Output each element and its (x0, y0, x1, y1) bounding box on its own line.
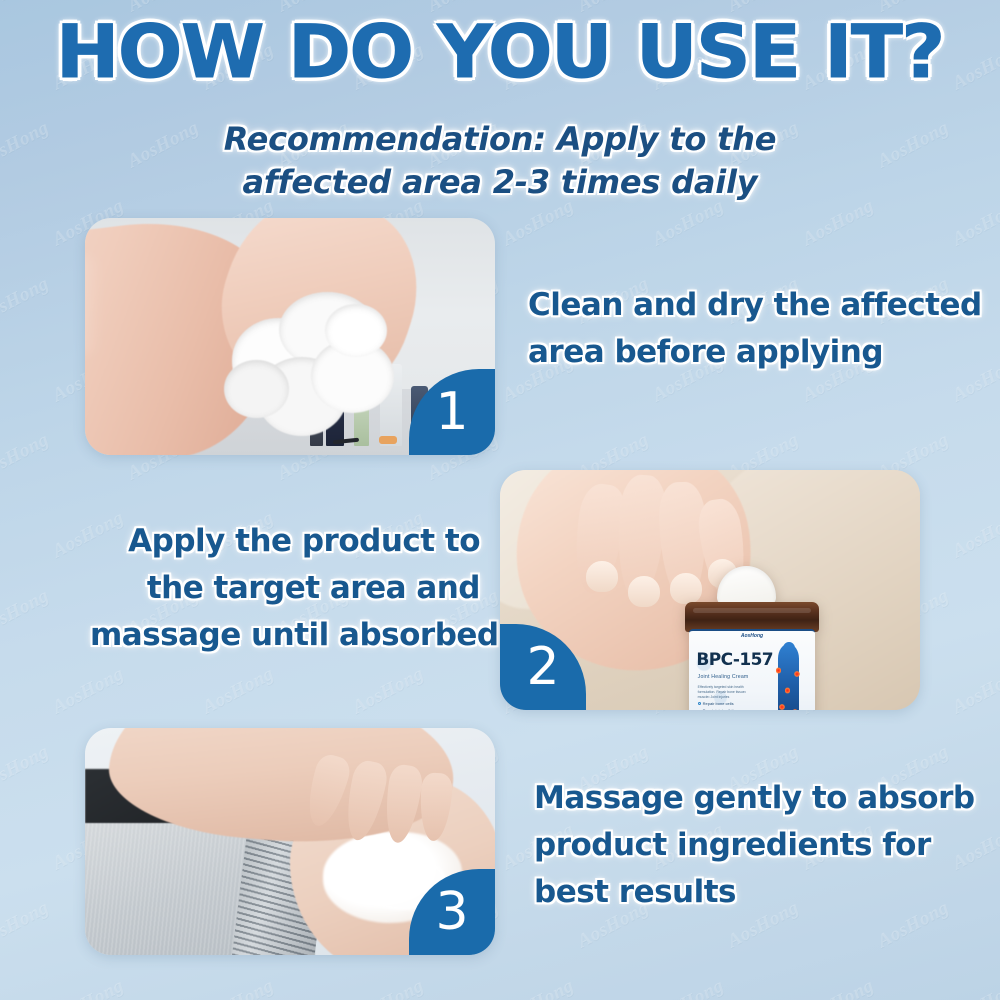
jar-benefit-list: Repair bone cells Repair joint soft tiss… (698, 700, 761, 710)
jar-benefit-item: Repair bone cells (698, 700, 761, 708)
check-circle-icon (698, 702, 701, 705)
jar-description: Effectively targeted skin health formula… (698, 685, 756, 700)
watermark-text: AosHong (799, 975, 878, 1000)
page-title: HOW DO YOU USE IT? (56, 16, 944, 90)
watermark-text: AosHong (949, 819, 1000, 875)
jar-benefit-label: Repair bone cells (703, 700, 734, 708)
foam-lather (224, 289, 404, 436)
step-2-line-2: the target area and (90, 565, 480, 612)
skin-highlight (85, 235, 138, 372)
step-1-photo-card: 1 (85, 218, 495, 455)
jar-product-subtitle: Joint Healing Cream (698, 674, 749, 680)
step-2-instruction: Apply the product to the target area and… (90, 518, 480, 659)
pain-point-dot (785, 687, 791, 693)
bottle-item (379, 436, 397, 444)
jar-label: AosHong BPC-157 Joint Healing Cream Effe… (689, 629, 815, 710)
watermark-text: AosHong (199, 975, 278, 1000)
step-3-line-3: best results (534, 869, 954, 916)
watermark-text: AosHong (649, 975, 728, 1000)
jar-product-name: BPC-157 (696, 650, 773, 670)
step-1-line-1: Clean and dry the affected (528, 282, 958, 329)
jar-benefit-item: Repair joint soft tissue (698, 707, 761, 710)
finger (380, 763, 423, 845)
fingernail (586, 561, 618, 592)
watermark-text: AosHong (0, 741, 53, 797)
watermark-text: AosHong (49, 975, 128, 1000)
jar-benefit-label: Repair joint soft tissue (703, 707, 742, 710)
watermark-text: AosHong (0, 585, 53, 641)
step-2-line-3: massage until absorbed (90, 612, 480, 659)
watermark-text: AosHong (0, 429, 53, 485)
subtitle-line-1: Recommendation: Apply to the (0, 118, 1000, 161)
watermark-text: AosHong (949, 507, 1000, 563)
pain-point-dot (776, 667, 782, 673)
fingers (306, 755, 478, 855)
subtitle-line-2: affected area 2-3 times daily (0, 161, 1000, 204)
foam-blob (325, 304, 386, 357)
watermark-text: AosHong (0, 273, 53, 329)
pain-point-dot (779, 704, 785, 710)
step-2-line-1: Apply the product to (90, 518, 480, 565)
body-diagram-icon (768, 644, 808, 710)
watermark-text: AosHong (0, 897, 53, 953)
recommendation-subtitle: Recommendation: Apply to the affected ar… (0, 118, 1000, 204)
watermark-text: AosHong (949, 975, 1000, 1000)
watermark-text: AosHong (949, 663, 1000, 719)
jar-lid (685, 602, 819, 632)
step-1-line-2: area before applying (528, 329, 958, 376)
step-2-photo-card: AosHong BPC-157 Joint Healing Cream Effe… (500, 470, 920, 710)
watermark-text: AosHong (349, 975, 428, 1000)
infographic-poster: AosHongAosHongAosHongAosHongAosHongAosHo… (0, 0, 1000, 1000)
jar-brand-name: AosHong (689, 633, 815, 639)
step-3-line-1: Massage gently to absorb (534, 775, 954, 822)
finger (418, 772, 454, 842)
watermark-text: AosHong (49, 663, 128, 719)
watermark-text: AosHong (499, 975, 578, 1000)
product-jar: AosHong BPC-157 Joint Healing Cream Effe… (685, 590, 819, 710)
fingernail (628, 576, 660, 607)
pain-point-dot (792, 709, 798, 710)
watermark-text: AosHong (349, 663, 428, 719)
finger (301, 752, 354, 831)
header-area: HOW DO YOU USE IT? (0, 16, 1000, 90)
step-3-line-2: product ingredients for (534, 822, 954, 869)
pain-point-dot (794, 671, 800, 677)
step-3-photo-card: 3 (85, 728, 495, 955)
step-1-instruction: Clean and dry the affected area before a… (528, 282, 958, 376)
step-3-instruction: Massage gently to absorb product ingredi… (534, 775, 954, 916)
watermark-text: AosHong (0, 0, 53, 17)
watermark-text: AosHong (199, 663, 278, 719)
